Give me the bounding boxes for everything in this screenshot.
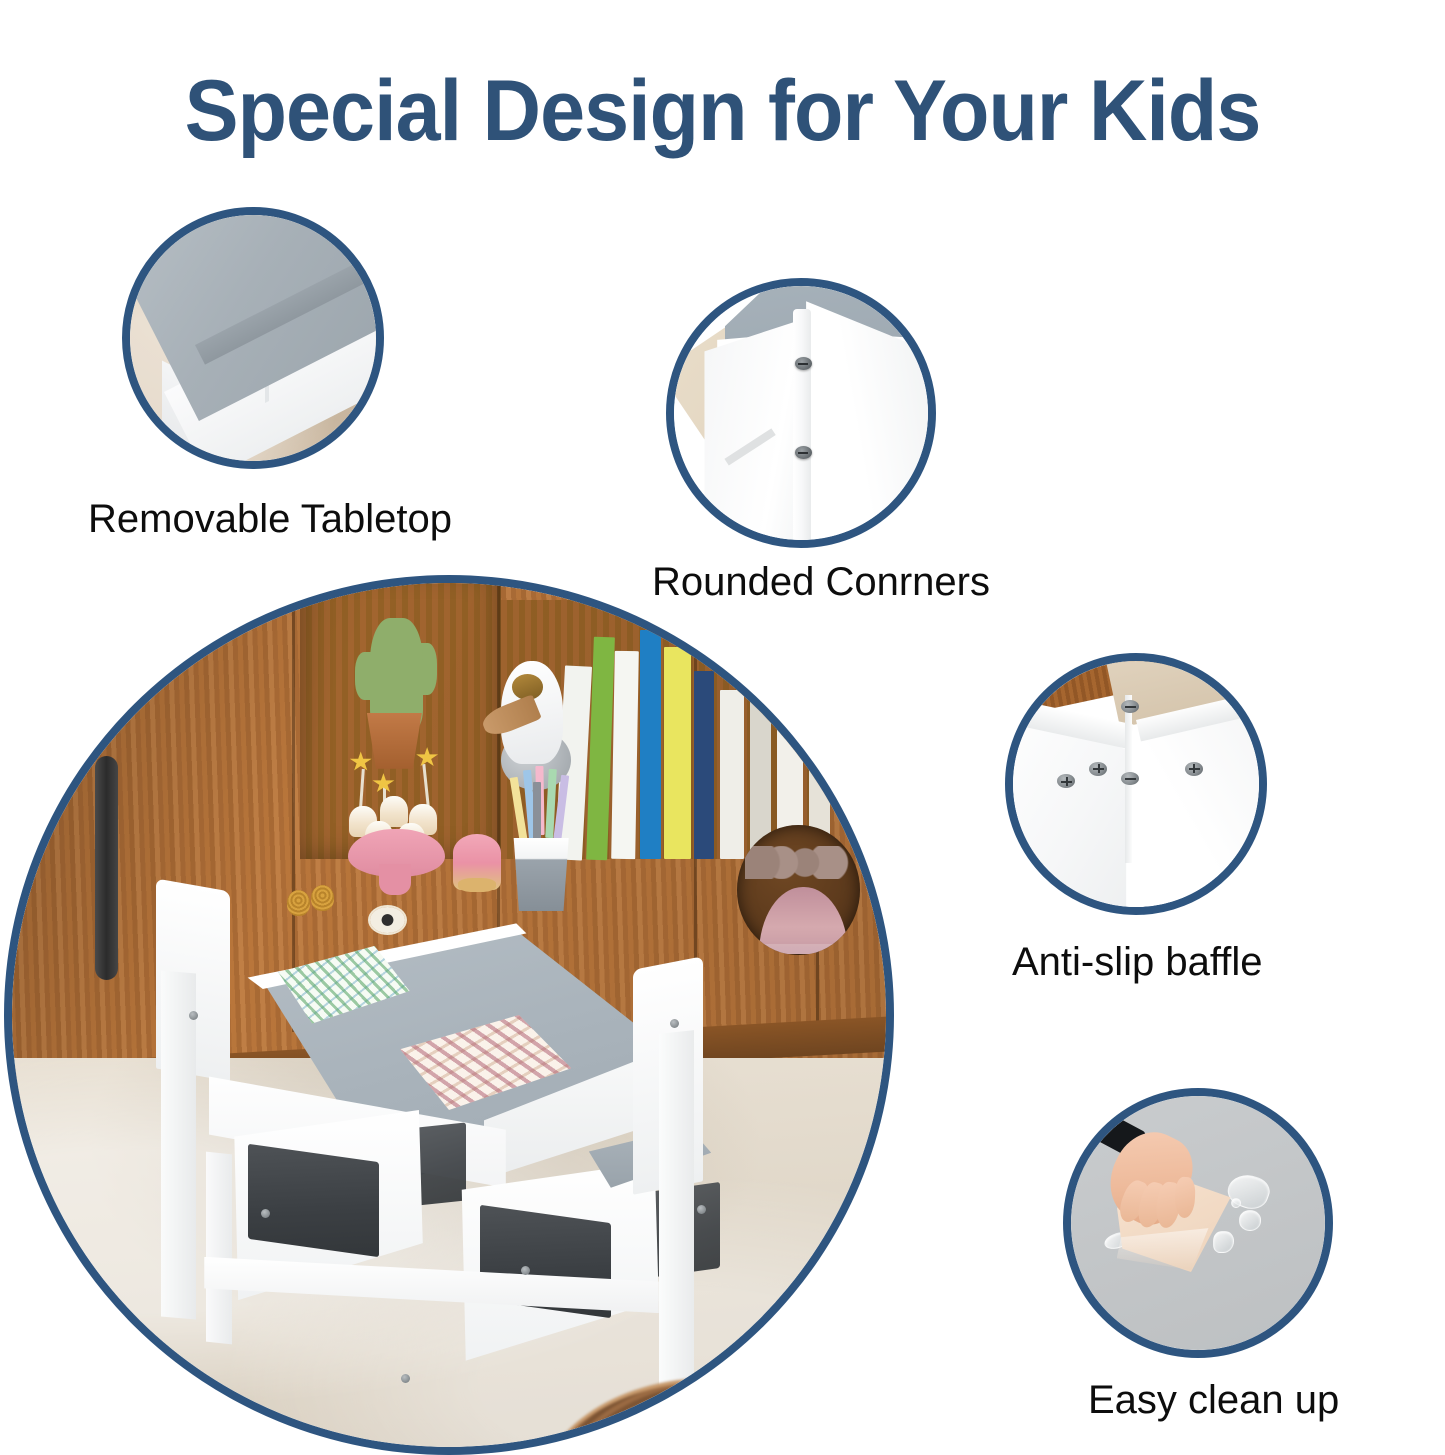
- cabinet-handle: [95, 756, 118, 981]
- feature-label-easy-clean-up: Easy clean up: [1088, 1378, 1339, 1423]
- pinecone-ornament: [311, 885, 334, 911]
- feature-image-rounded-corners: [666, 278, 936, 548]
- rounded-corner-icon: [674, 286, 928, 540]
- screw-icon: [1185, 762, 1203, 776]
- infographic-canvas: Special Design for Your Kids Removable T…: [0, 0, 1445, 1445]
- book-spine: [694, 671, 715, 860]
- baffle-icon: [1013, 661, 1259, 907]
- table-leg-left: [206, 1152, 232, 1345]
- rainbow-stacker-toy: [759, 887, 847, 954]
- book-spine: [640, 630, 661, 860]
- feature-image-removable-tabletop: [122, 207, 384, 469]
- page-title: Special Design for Your Kids: [43, 62, 1401, 161]
- screw-icon: [189, 1011, 198, 1020]
- playroom-scene: [12, 583, 886, 1447]
- chair-left-post: [161, 970, 196, 1319]
- water-droplet: [1239, 1210, 1262, 1230]
- feature-image-easy-clean-up: [1063, 1088, 1333, 1358]
- feature-label-anti-slip-baffle: Anti-slip baffle: [1012, 940, 1263, 985]
- main-product-photo: [4, 575, 894, 1455]
- cabinet-door-seam: [292, 583, 295, 1032]
- cupcake-stand-foot: [379, 864, 410, 895]
- screw-icon: [795, 446, 812, 459]
- bookshelf-books: [554, 618, 851, 860]
- photo-circle-frame: [4, 575, 894, 1455]
- pinecone-ornament: [287, 890, 310, 916]
- wipe-clean-icon: [1071, 1096, 1325, 1350]
- water-droplet: [1231, 1198, 1241, 1208]
- book-spine: [664, 647, 691, 860]
- book-spine: [611, 651, 638, 859]
- carousel-toy-base: [458, 878, 496, 892]
- abacus-toy: [745, 846, 853, 880]
- decorative-coaster: [370, 907, 405, 933]
- screw-icon: [795, 357, 812, 370]
- feature-label-removable-tabletop: Removable Tabletop: [88, 497, 452, 542]
- screw-icon: [1121, 772, 1139, 785]
- tabletop-lift-icon: [130, 215, 376, 461]
- screw-icon: [521, 1266, 530, 1275]
- feature-image-anti-slip-baffle: [1005, 653, 1267, 915]
- storage-bin: [248, 1144, 379, 1257]
- screw-icon: [1089, 762, 1107, 776]
- book-spine: [720, 690, 744, 859]
- pencil-cup: [508, 838, 574, 911]
- rounded-corner-post: [793, 309, 811, 540]
- screw-icon: [401, 1374, 410, 1383]
- chair-right-post: [659, 1030, 694, 1397]
- cabinet-porthole: [737, 825, 859, 955]
